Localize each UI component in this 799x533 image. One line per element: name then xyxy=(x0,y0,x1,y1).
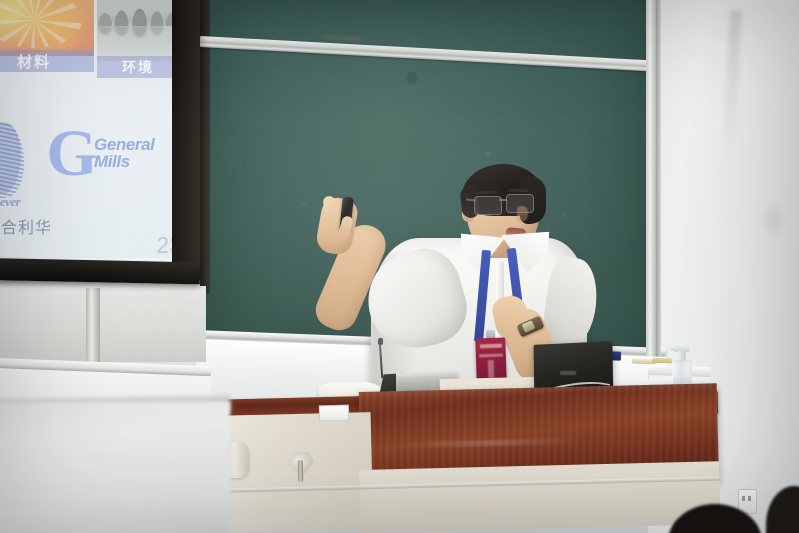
projection-screen-weight-bar[interactable] xyxy=(0,258,200,284)
foreground-wall xyxy=(0,402,230,533)
lectern-asset-label-text xyxy=(320,406,348,410)
lecture-photo-scene: 材料 环境 Unilever 联合利华 G General Mills 23 xyxy=(0,0,799,533)
badge-text-line-3 xyxy=(488,360,495,378)
fullerene-molecule-image xyxy=(0,0,94,56)
chalkboard-frame-right xyxy=(646,0,656,376)
unilever-chinese-name: 联合利华 xyxy=(0,214,76,236)
lectern-latch-bar[interactable] xyxy=(298,460,304,482)
wall-panel-strut xyxy=(86,288,100,362)
general-mills-line1: General xyxy=(94,136,172,153)
laptop-badge xyxy=(560,371,576,375)
general-mills-wordmark: General Mills xyxy=(94,136,172,170)
unilever-logo-mark xyxy=(0,122,24,198)
badge-text-line-1 xyxy=(480,344,502,349)
left-wall-panel xyxy=(0,286,206,362)
projection-screen-surface[interactable]: 材料 环境 Unilever 联合利华 G General Mills 23 xyxy=(0,0,172,258)
materials-caption-label: 材料 xyxy=(0,50,94,72)
general-mills-logo-mark: G xyxy=(46,120,98,192)
environment-caption-label: 环境 xyxy=(97,56,172,78)
ledge-chalk-stick xyxy=(652,358,672,364)
lectern-asset-label xyxy=(319,405,349,422)
projection-screen-border xyxy=(172,0,200,280)
unilever-wordmark: Unilever xyxy=(0,194,34,210)
slide-page-number: 23 xyxy=(146,232,172,258)
outlet-slot-left xyxy=(742,496,745,501)
antenna-tip xyxy=(378,338,383,345)
wall-stain xyxy=(760,200,786,240)
projection-screen-assembly: 材料 环境 Unilever 联合利华 G General Mills 23 xyxy=(0,0,206,294)
eyeglasses-left-lens xyxy=(474,196,502,215)
chalkboard-frame-right-inner xyxy=(656,0,661,376)
outlet-slot-right xyxy=(748,496,751,501)
karst-landscape-image xyxy=(97,0,172,61)
lectern-lower-panel xyxy=(359,461,720,533)
general-mills-line2: Mills xyxy=(94,153,172,170)
eyeglasses-bridge xyxy=(499,199,507,201)
